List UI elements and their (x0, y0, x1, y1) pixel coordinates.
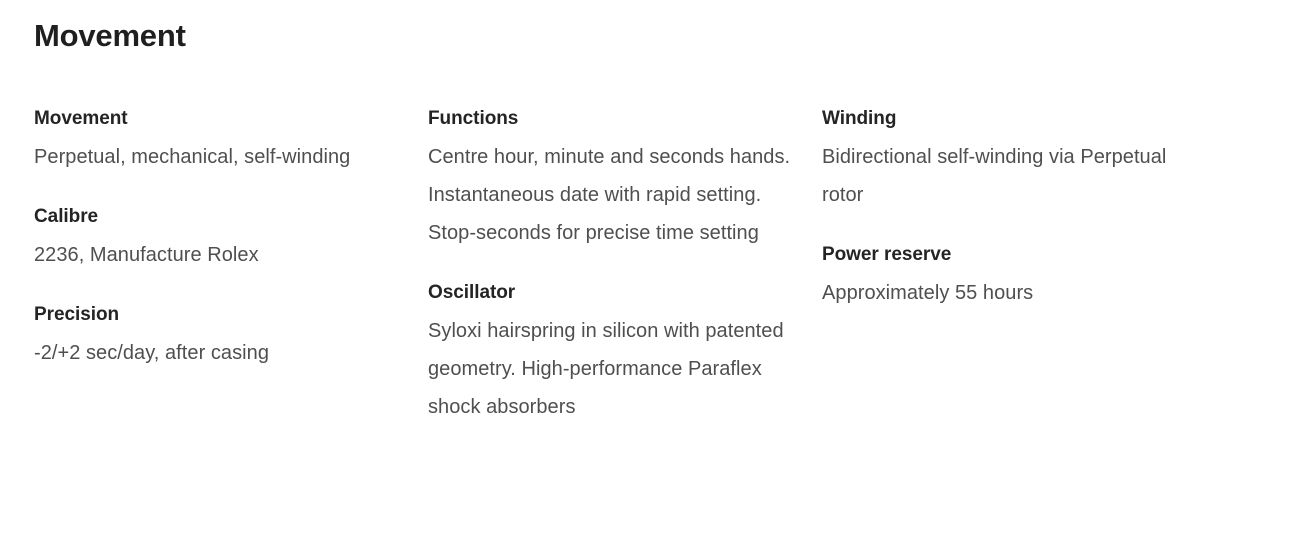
spec-text-calibre: 2236, Manufacture Rolex (34, 236, 400, 274)
spec-heading-oscillator: Oscillator (428, 274, 794, 312)
spec-text-winding: Bidirectional self-winding via Perpetual… (822, 138, 1188, 214)
spec-heading-winding: Winding (822, 100, 1188, 138)
spec-heading-movement: Movement (34, 100, 400, 138)
spec-text-functions: Centre hour, minute and seconds hands. I… (428, 138, 794, 252)
spec-block-movement: Movement Perpetual, mechanical, self-win… (34, 100, 400, 176)
spec-text-precision: -2/+2 sec/day, after casing (34, 334, 400, 372)
spec-text-oscillator: Syloxi hairspring in silicon with patent… (428, 312, 794, 426)
spec-column-functions: Functions Centre hour, minute and second… (428, 100, 822, 426)
spec-block-precision: Precision -2/+2 sec/day, after casing (34, 296, 400, 372)
movement-spec-panel: Movement Movement Perpetual, mechanical,… (0, 0, 1300, 549)
spec-block-power-reserve: Power reserve Approximately 55 hours (822, 236, 1188, 312)
spec-heading-precision: Precision (34, 296, 400, 334)
spec-block-winding: Winding Bidirectional self-winding via P… (822, 100, 1188, 214)
spec-heading-calibre: Calibre (34, 198, 400, 236)
spec-column-winding: Winding Bidirectional self-winding via P… (822, 100, 1216, 312)
spec-block-functions: Functions Centre hour, minute and second… (428, 100, 794, 252)
spec-heading-functions: Functions (428, 100, 794, 138)
spec-text-power-reserve: Approximately 55 hours (822, 274, 1188, 312)
spec-block-oscillator: Oscillator Syloxi hairspring in silicon … (428, 274, 794, 426)
spec-block-calibre: Calibre 2236, Manufacture Rolex (34, 198, 400, 274)
spec-heading-power-reserve: Power reserve (822, 236, 1188, 274)
spec-text-movement: Perpetual, mechanical, self-winding (34, 138, 400, 176)
page-title: Movement (34, 0, 1266, 54)
spec-column-movement: Movement Perpetual, mechanical, self-win… (34, 100, 428, 372)
spec-columns: Movement Perpetual, mechanical, self-win… (34, 100, 1266, 426)
